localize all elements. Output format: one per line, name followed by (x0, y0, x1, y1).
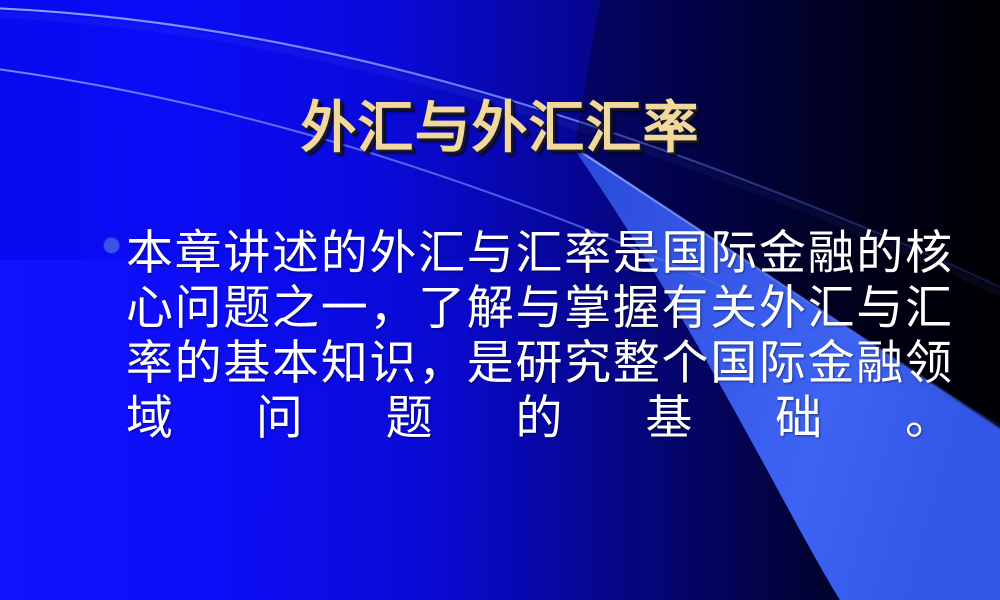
list-item: 本章讲述的外汇与汇率是国际金融的核心问题之一，了解与掌握有关外汇与汇率的基本知识… (96, 226, 952, 501)
bullet-item-text: 本章讲述的外汇与汇率是国际金融的核心问题之一，了解与掌握有关外汇与汇率的基本知识… (96, 226, 952, 501)
bullet-point-icon (104, 238, 119, 253)
bullet-list: 本章讲述的外汇与汇率是国际金融的核心问题之一，了解与掌握有关外汇与汇率的基本知识… (96, 226, 952, 501)
page-title: 外汇与外汇汇率 (0, 98, 1000, 160)
presentation-slide: 外汇与外汇汇率 本章讲述的外汇与汇率是国际金融的核心问题之一，了解与掌握有关外汇… (0, 0, 1000, 600)
slide-content: 外汇与外汇汇率 本章讲述的外汇与汇率是国际金融的核心问题之一，了解与掌握有关外汇… (0, 0, 1000, 600)
